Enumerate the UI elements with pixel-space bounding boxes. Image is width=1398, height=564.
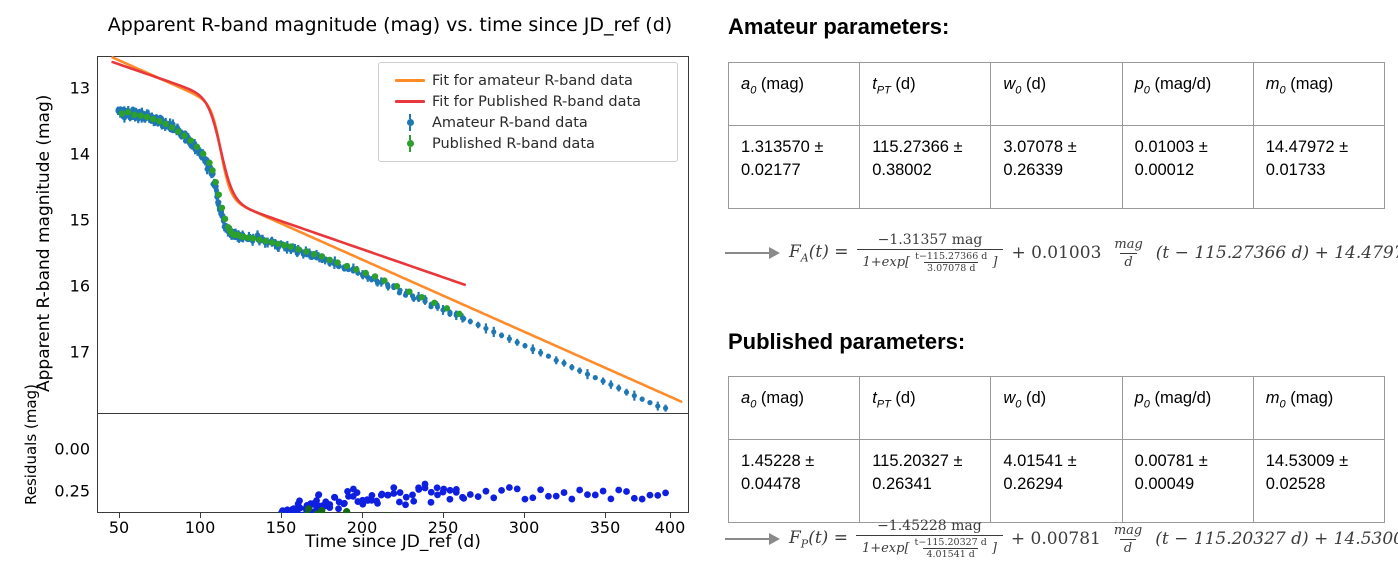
unit-a: (mag): [756, 389, 804, 407]
formula-lhs-a: F: [789, 242, 801, 262]
amateur-parameters-table: a0 (mag) tPT (d) w0 (d) p0 (mag/d) m0 (m…: [728, 62, 1385, 209]
header-cell-p0: p0 (mag/d): [1122, 377, 1253, 440]
den-inner-num-a: t−115.27366 d: [912, 251, 990, 262]
legend-label-0: Fit for amateur R-band data: [432, 73, 633, 89]
figure-page: Apparent R-band magnitude (mag) vs. time…: [0, 0, 1398, 564]
value-cell-m0: 14.53009 ± 0.02528: [1253, 440, 1384, 523]
x-tick-3: 200: [347, 518, 378, 537]
formula-lhs-arg-a: (t) =: [809, 242, 849, 262]
formula-unit-num-a: mag: [1110, 237, 1146, 253]
sym-w: w: [1003, 75, 1015, 93]
formula-lhs-p: F: [789, 528, 801, 548]
value-cell-tpt: 115.27366 ± 0.38002: [860, 126, 991, 209]
header-cell-a0: a0 (mag): [729, 63, 860, 126]
value-cell-tpt: 115.20327 ± 0.26341: [860, 440, 991, 523]
legend-errorbar-icon-amateur: [388, 119, 432, 126]
header-cell-m0: m0 (mag): [1253, 63, 1384, 126]
sym-a: a: [741, 75, 750, 93]
sym-p: p: [1135, 75, 1144, 93]
header-cell-w0: w0 (d): [991, 63, 1122, 126]
unit-a: (mag): [756, 75, 804, 93]
table-value-row: 1.45228 ± 0.04478 115.20327 ± 0.26341 4.…: [729, 440, 1385, 523]
den-inner-den-a: 3.07078 d: [924, 262, 978, 274]
amateur-section-title: Amateur parameters:: [728, 14, 949, 40]
den-inner-num-p: t−115.20327 d: [912, 537, 990, 548]
table-header-row: a0 (mag) tPT (d) w0 (d) p0 (mag/d) m0 (m…: [729, 377, 1385, 440]
den-inner-frac-p: t−115.20327 d4.01541 d: [912, 537, 990, 560]
unit-m: (mag): [1286, 389, 1334, 407]
sym-m: m: [1266, 75, 1280, 93]
formula-unit-num-p: mag: [1110, 523, 1146, 539]
published-parameters-table: a0 (mag) tPT (d) w0 (d) p0 (mag/d) m0 (m…: [728, 376, 1385, 523]
header-cell-tpt: tPT (d): [860, 63, 991, 126]
amateur-formula-row: FA(t) = −1.31357 mag 1+exp[t−115.27366 d…: [725, 232, 1398, 274]
x-tick-6: 350: [590, 518, 621, 537]
den-inner-frac-a: t−115.27366 d3.07078 d: [912, 251, 990, 274]
unit-w: (d): [1021, 389, 1046, 407]
sub-t: PT: [877, 398, 891, 410]
header-cell-a0: a0 (mag): [729, 377, 860, 440]
value-cell-a0: 1.313570 ± 0.02177: [729, 126, 860, 209]
x-tick-7: 400: [655, 518, 686, 537]
value-cell-m0: 14.47972 ± 0.01733: [1253, 126, 1384, 209]
formula-lhs-sub-a: A: [801, 251, 809, 264]
formula-slope-a: + 0.01003: [1011, 243, 1101, 263]
den-suffix-p: ]: [992, 541, 997, 556]
sym-m: m: [1266, 389, 1280, 407]
parameters-panel: Amateur parameters: a0 (mag) tPT (d) w0 …: [715, 0, 1398, 564]
sym-p: p: [1135, 389, 1144, 407]
legend-item-amateur-data: Amateur R-band data: [388, 112, 668, 133]
arrow-icon-amateur: [725, 246, 783, 260]
legend-item-published-fit: Fit for Published R-band data: [388, 91, 668, 112]
value-cell-p0: 0.00781 ± 0.00049: [1122, 440, 1253, 523]
table-header-row: a0 (mag) tPT (d) w0 (d) p0 (mag/d) m0 (m…: [729, 63, 1385, 126]
unit-w: (d): [1021, 75, 1046, 93]
den-inner-den-p: 4.01541 d: [923, 548, 977, 560]
unit-p: (mag/d): [1150, 75, 1211, 93]
unit-t: (d): [891, 389, 916, 407]
formula-denominator-a: 1+exp[t−115.27366 d3.07078 d]: [857, 249, 1004, 274]
unit-p: (mag/d): [1150, 389, 1211, 407]
arrow-icon-published: [725, 532, 783, 546]
formula-fraction-a: −1.31357 mag 1+exp[t−115.27366 d3.07078 …: [857, 232, 1004, 274]
legend-label-1: Fit for Published R-band data: [432, 94, 641, 110]
x-tick-5: 300: [509, 518, 540, 537]
formula-unit-den-p: d: [1120, 539, 1136, 556]
den-suffix-a: ]: [992, 255, 997, 270]
legend-line-icon-published-fit: [388, 100, 432, 103]
formula-tail-p: (t − 115.20327 d) + 14.53009 d: [1155, 529, 1398, 549]
value-cell-w0: 4.01541 ± 0.26294: [991, 440, 1122, 523]
table-value-row: 1.313570 ± 0.02177 115.27366 ± 0.38002 3…: [729, 126, 1385, 209]
legend-item-published-data: Published R-band data: [388, 133, 668, 154]
formula-slope-p: + 0.00781: [1011, 529, 1101, 549]
value-cell-w0: 3.07078 ± 0.26339: [991, 126, 1122, 209]
value-cell-p0: 0.01003 ± 0.00012: [1122, 126, 1253, 209]
legend-item-amateur-fit: Fit for amateur R-band data: [388, 70, 668, 91]
formula-numerator-a: −1.31357 mag: [872, 232, 989, 249]
header-cell-m0: m0 (mag): [1253, 377, 1384, 440]
sub-t: PT: [877, 84, 891, 96]
den-prefix-a: 1+exp[: [863, 255, 911, 270]
header-cell-tpt: tPT (d): [860, 377, 991, 440]
header-cell-w0: w0 (d): [991, 377, 1122, 440]
published-formula-row: FP(t) = −1.45228 mag 1+exp[t−115.20327 d…: [725, 516, 1398, 562]
published-section-title: Published parameters:: [728, 329, 965, 355]
formula-unit-p: magd: [1110, 523, 1146, 556]
formula-unit-den-a: d: [1120, 253, 1136, 270]
x-tick-2: 150: [266, 518, 297, 537]
legend-errorbar-icon-published: [388, 140, 432, 147]
light-curve-figure: Apparent R-band magnitude (mag) vs. time…: [0, 0, 710, 564]
sym-a: a: [741, 389, 750, 407]
den-prefix-p: 1+exp[: [862, 541, 910, 556]
plot-legend: Fit for amateur R-band data Fit for Publ…: [378, 62, 678, 162]
formula-fraction-p: −1.45228 mag 1+exp[t−115.20327 d4.01541 …: [856, 518, 1003, 560]
x-tick-4: 250: [428, 518, 459, 537]
formula-numerator-p: −1.45228 mag: [871, 518, 988, 535]
formula-unit-a: magd: [1110, 237, 1146, 270]
formula-lhs-arg-p: (t) =: [808, 528, 848, 548]
unit-m: (mag): [1286, 75, 1334, 93]
formula-tail-a: (t − 115.27366 d) + 14.47972 d: [1156, 243, 1398, 263]
unit-t: (d): [891, 75, 916, 93]
x-tick-0: 50: [109, 518, 129, 537]
sym-w: w: [1003, 389, 1015, 407]
amateur-formula: FA(t) = −1.31357 mag 1+exp[t−115.27366 d…: [789, 232, 1398, 274]
published-formula: FP(t) = −1.45228 mag 1+exp[t−115.20327 d…: [789, 518, 1398, 560]
legend-label-2: Amateur R-band data: [432, 115, 588, 131]
legend-label-3: Published R-band data: [432, 136, 595, 152]
value-cell-a0: 1.45228 ± 0.04478: [729, 440, 860, 523]
formula-denominator-p: 1+exp[t−115.20327 d4.01541 d]: [856, 535, 1003, 560]
x-tick-1: 100: [185, 518, 216, 537]
header-cell-p0: p0 (mag/d): [1122, 63, 1253, 126]
legend-line-icon-amateur-fit: [388, 79, 432, 82]
